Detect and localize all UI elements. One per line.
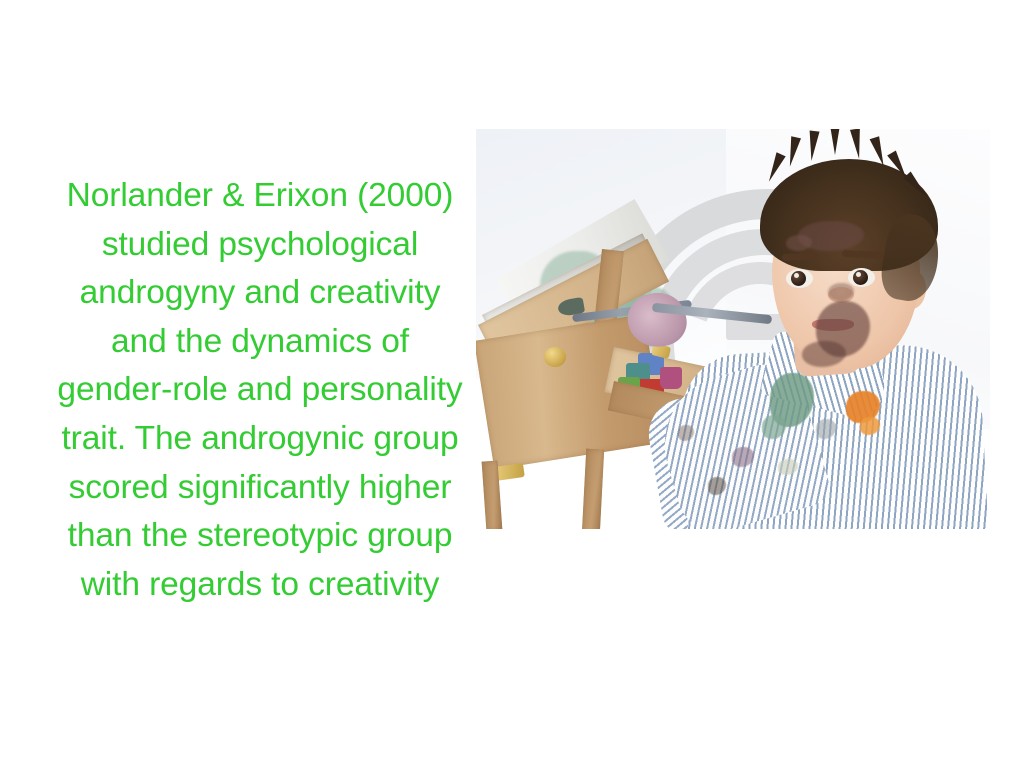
- text-line-9: with regards to creativity: [34, 561, 486, 610]
- photo-child-painting: [476, 129, 990, 529]
- pupil-right: [853, 270, 868, 285]
- hand-holding-brush: [623, 288, 691, 353]
- hair-spike-7: [764, 152, 785, 183]
- body-text-block: Norlander & Erixon (2000) studied psycho…: [34, 172, 486, 609]
- pupil-left: [791, 271, 806, 286]
- hair-spike-4: [850, 129, 864, 160]
- hair-spike-2: [806, 131, 819, 162]
- text-line-1: Norlander & Erixon (2000): [34, 172, 486, 221]
- child-figure: [476, 129, 990, 529]
- photo-content: [476, 129, 990, 529]
- hair-spike-1: [785, 136, 801, 167]
- slide-canvas: Norlander & Erixon (2000) studied psycho…: [0, 0, 1023, 767]
- text-line-3: androgyny and creativity: [34, 269, 486, 318]
- text-line-7: scored significantly higher: [34, 464, 486, 513]
- text-line-5: gender-role and personality: [34, 366, 486, 415]
- text-line-4: and the dynamics of: [34, 318, 486, 367]
- text-line-6: trait. The androgynic group: [34, 415, 486, 464]
- hair-spike-3: [830, 129, 840, 155]
- text-line-8: than the stereotypic group: [34, 512, 486, 561]
- text-line-2: studied psychological: [34, 221, 486, 270]
